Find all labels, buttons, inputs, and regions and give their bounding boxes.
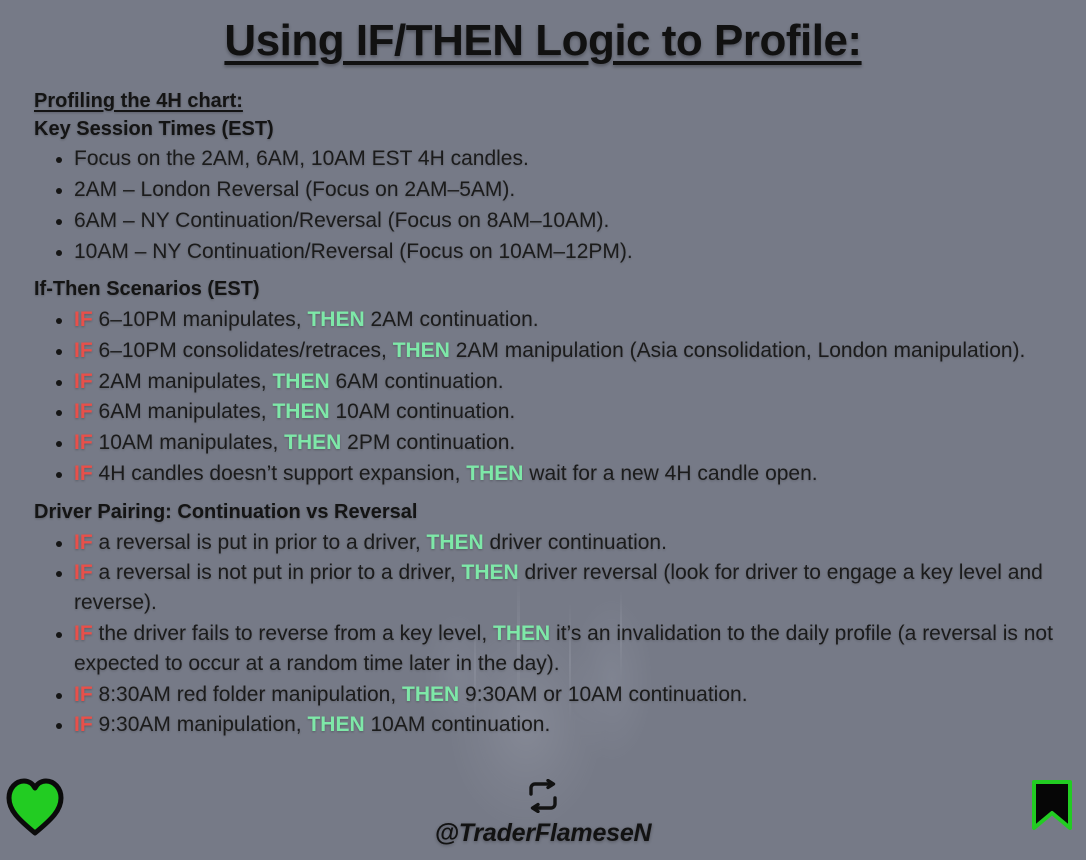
list-key-session-times: Focus on the 2AM, 6AM, 10AM EST 4H candl… [34, 144, 1064, 266]
keyword-then: THEN [307, 308, 364, 331]
slide-page: Using IF/THEN Logic to Profile: Profilin… [0, 0, 1086, 850]
section-heading-profiling: Profiling the 4H chart: [34, 88, 1064, 116]
list-item: 10AM – NY Continuation/Reversal (Focus o… [34, 237, 1064, 267]
list-item: IF 8:30AM red folder manipulation, THEN … [34, 680, 1064, 710]
result-text: driver continuation. [490, 531, 667, 554]
list-item: 6AM – NY Continuation/Reversal (Focus on… [34, 206, 1064, 236]
list-item: IF 10AM manipulates, THEN 2PM continuati… [34, 428, 1064, 458]
keyword-then: THEN [272, 370, 329, 393]
content-body: Profiling the 4H chart: Key Session Time… [0, 88, 1086, 740]
condition-text: 10AM manipulates, [99, 431, 279, 454]
list-item: IF a reversal is not put in prior to a d… [34, 558, 1064, 618]
keyword-if: IF [74, 531, 93, 554]
bottom-action-bar: @TraderFlameseN [0, 772, 1086, 850]
result-text: wait for a new 4H candle open. [529, 462, 817, 485]
keyword-if: IF [74, 339, 93, 362]
keyword-then: THEN [427, 531, 484, 554]
section-heading-driver-pairing: Driver Pairing: Continuation vs Reversal [34, 499, 1064, 527]
keyword-then: THEN [272, 400, 329, 423]
keyword-then: THEN [402, 683, 459, 706]
result-text: 2AM continuation. [371, 308, 539, 331]
list-driver-pairing: IF a reversal is put in prior to a drive… [34, 528, 1064, 741]
result-text: 6AM continuation. [335, 370, 503, 393]
keyword-if: IF [74, 370, 93, 393]
list-item: 2AM – London Reversal (Focus on 2AM–5AM)… [34, 175, 1064, 205]
list-item-text: Focus on the 2AM, 6AM, 10AM EST 4H candl… [74, 147, 529, 170]
list-item: IF the driver fails to reverse from a ke… [34, 619, 1064, 679]
section-heading-if-then-scenarios: If-Then Scenarios (EST) [34, 276, 1064, 304]
keyword-then: THEN [284, 431, 341, 454]
condition-text: 4H candles doesn’t support expansion, [99, 462, 461, 485]
list-item: IF 9:30AM manipulation, THEN 10AM contin… [34, 710, 1064, 740]
list-item: IF 6AM manipulates, THEN 10AM continuati… [34, 397, 1064, 427]
keyword-then: THEN [307, 713, 364, 736]
list-item: IF 2AM manipulates, THEN 6AM continuatio… [34, 367, 1064, 397]
keyword-then: THEN [393, 339, 450, 362]
repost-and-handle: @TraderFlameseN [0, 779, 1086, 848]
keyword-if: IF [74, 683, 93, 706]
repeat-icon[interactable] [523, 779, 563, 818]
result-text: 2AM manipulation (Asia consolidation, Lo… [456, 339, 1026, 362]
condition-text: 6–10PM manipulates, [99, 308, 302, 331]
page-title: Using IF/THEN Logic to Profile: [0, 0, 1086, 66]
condition-text: 6–10PM consolidates/retraces, [99, 339, 387, 362]
list-if-then-scenarios: IF 6–10PM manipulates, THEN 2AM continua… [34, 305, 1064, 489]
author-handle[interactable]: @TraderFlameseN [435, 819, 652, 848]
condition-text: the driver fails to reverse from a key l… [99, 622, 488, 645]
result-text: 9:30AM or 10AM continuation. [465, 683, 748, 706]
condition-text: 9:30AM manipulation, [99, 713, 302, 736]
keyword-then: THEN [462, 561, 519, 584]
list-item: IF 6–10PM manipulates, THEN 2AM continua… [34, 305, 1064, 335]
keyword-if: IF [74, 622, 93, 645]
bookmark-icon[interactable] [1030, 779, 1074, 836]
list-item: IF 4H candles doesn’t support expansion,… [34, 459, 1064, 489]
condition-text: a reversal is not put in prior to a driv… [99, 561, 456, 584]
keyword-if: IF [74, 561, 93, 584]
condition-text: 6AM manipulates, [99, 400, 267, 423]
list-item: Focus on the 2AM, 6AM, 10AM EST 4H candl… [34, 144, 1064, 174]
list-item: IF a reversal is put in prior to a drive… [34, 528, 1064, 558]
keyword-if: IF [74, 400, 93, 423]
list-item: IF 6–10PM consolidates/retraces, THEN 2A… [34, 336, 1064, 366]
condition-text: 8:30AM red folder manipulation, [99, 683, 397, 706]
keyword-then: THEN [466, 462, 523, 485]
list-item-text: 10AM – NY Continuation/Reversal (Focus o… [74, 240, 633, 263]
keyword-if: IF [74, 308, 93, 331]
keyword-if: IF [74, 431, 93, 454]
keyword-if: IF [74, 462, 93, 485]
list-item-text: 2AM – London Reversal (Focus on 2AM–5AM)… [74, 178, 515, 201]
condition-text: 2AM manipulates, [99, 370, 267, 393]
result-text: 2PM continuation. [347, 431, 515, 454]
condition-text: a reversal is put in prior to a driver, [99, 531, 421, 554]
keyword-if: IF [74, 713, 93, 736]
keyword-then: THEN [493, 622, 550, 645]
result-text: 10AM continuation. [371, 713, 551, 736]
list-item-text: 6AM – NY Continuation/Reversal (Focus on… [74, 209, 609, 232]
result-text: 10AM continuation. [335, 400, 515, 423]
section-heading-key-session-times: Key Session Times (EST) [34, 116, 1064, 144]
